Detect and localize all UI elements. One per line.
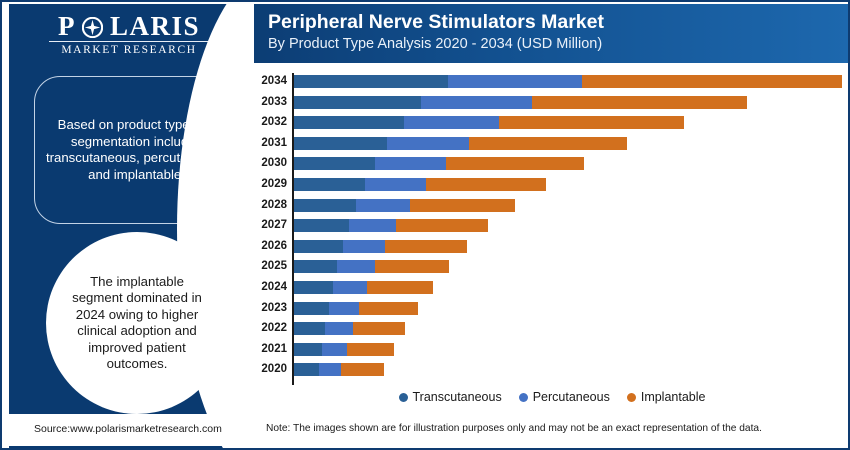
y-axis-tick-label: 2026 xyxy=(254,236,287,256)
stacked-bar[interactable] xyxy=(294,137,627,150)
chart-row: 2026 xyxy=(254,236,850,256)
bar-segment-percutaneous[interactable] xyxy=(387,137,469,150)
bar-segment-transcutaneous[interactable] xyxy=(294,281,333,294)
bar-segment-percutaneous[interactable] xyxy=(333,281,367,294)
chart-row: 2020 xyxy=(254,359,850,379)
bar-segment-percutaneous[interactable] xyxy=(356,199,410,212)
stacked-bar[interactable] xyxy=(294,219,488,232)
source-text: Source:www.polarismarketresearch.com xyxy=(34,423,222,435)
chart-row: 2029 xyxy=(254,174,850,194)
stacked-bar[interactable] xyxy=(294,178,546,191)
bar-segment-percutaneous[interactable] xyxy=(375,157,446,170)
bar-segment-percutaneous[interactable] xyxy=(329,302,359,315)
legend-label: Percutaneous xyxy=(533,390,610,404)
stacked-bar[interactable] xyxy=(294,260,449,273)
chart-row: 2031 xyxy=(254,133,850,153)
chart-row: 2024 xyxy=(254,277,850,297)
bar-segment-transcutaneous[interactable] xyxy=(294,137,387,150)
bar-segment-implantable[interactable] xyxy=(582,75,842,88)
logo-subtitle: MARKET RESEARCH xyxy=(49,44,209,56)
bar-segment-transcutaneous[interactable] xyxy=(294,96,421,109)
y-axis-tick-label: 2024 xyxy=(254,277,287,297)
bar-segment-transcutaneous[interactable] xyxy=(294,260,337,273)
bar-segment-percutaneous[interactable] xyxy=(319,363,341,376)
y-axis-tick-label: 2031 xyxy=(254,133,287,153)
bar-segment-percutaneous[interactable] xyxy=(337,260,375,273)
bar-segment-implantable[interactable] xyxy=(375,260,448,273)
y-axis-tick-label: 2022 xyxy=(254,318,287,338)
bar-segment-transcutaneous[interactable] xyxy=(294,363,319,376)
chart-row: 2023 xyxy=(254,298,850,318)
bar-segment-transcutaneous[interactable] xyxy=(294,322,325,335)
stacked-bar[interactable] xyxy=(294,96,747,109)
y-axis-tick-label: 2023 xyxy=(254,298,287,318)
logo-wordmark: P LARIS xyxy=(58,12,200,40)
bar-segment-transcutaneous[interactable] xyxy=(294,343,322,356)
stacked-bar[interactable] xyxy=(294,157,584,170)
logo-letters-laris: LARIS xyxy=(110,11,200,41)
bar-segment-implantable[interactable] xyxy=(410,199,515,212)
bar-segment-transcutaneous[interactable] xyxy=(294,219,349,232)
y-axis-tick-label: 2020 xyxy=(254,359,287,379)
chart-row: 2030 xyxy=(254,153,850,173)
bar-segment-implantable[interactable] xyxy=(396,219,488,232)
y-axis-tick-label: 2027 xyxy=(254,215,287,235)
legend-item-implantable[interactable]: Implantable xyxy=(627,390,706,404)
y-axis-tick-label: 2028 xyxy=(254,195,287,215)
bar-segment-implantable[interactable] xyxy=(469,137,627,150)
y-axis-tick-label: 2029 xyxy=(254,174,287,194)
bar-segment-implantable[interactable] xyxy=(532,96,747,109)
chart-row: 2032 xyxy=(254,112,850,132)
bar-segment-implantable[interactable] xyxy=(347,343,394,356)
bar-segment-percutaneous[interactable] xyxy=(322,343,347,356)
bar-segment-implantable[interactable] xyxy=(353,322,406,335)
y-axis-tick-label: 2034 xyxy=(254,71,287,91)
insight-callout-text: The implantable segment dominated in 202… xyxy=(64,274,210,373)
legend-item-percutaneous[interactable]: Percutaneous xyxy=(519,390,610,404)
bar-segment-transcutaneous[interactable] xyxy=(294,116,404,129)
logo-divider: MARKET RESEARCH xyxy=(49,41,209,56)
bar-segment-implantable[interactable] xyxy=(446,157,583,170)
chart-row: 2034 xyxy=(254,71,850,91)
panel-left-edge xyxy=(4,4,9,450)
bar-segment-percutaneous[interactable] xyxy=(365,178,427,191)
bar-segment-percutaneous[interactable] xyxy=(343,240,385,253)
bar-segment-transcutaneous[interactable] xyxy=(294,178,365,191)
disclaimer-note: Note: The images shown are for illustrat… xyxy=(266,423,762,434)
bar-segment-percutaneous[interactable] xyxy=(325,322,352,335)
bar-segment-implantable[interactable] xyxy=(385,240,467,253)
page-title: Peripheral Nerve Stimulators Market xyxy=(268,10,850,34)
stacked-bar[interactable] xyxy=(294,322,405,335)
stacked-bar[interactable] xyxy=(294,343,394,356)
chart-row: 2021 xyxy=(254,339,850,359)
bar-segment-transcutaneous[interactable] xyxy=(294,240,343,253)
stacked-bar[interactable] xyxy=(294,116,684,129)
bar-segment-implantable[interactable] xyxy=(426,178,545,191)
bar-segment-transcutaneous[interactable] xyxy=(294,302,329,315)
bar-segment-implantable[interactable] xyxy=(359,302,418,315)
bar-segment-implantable[interactable] xyxy=(367,281,433,294)
y-axis-tick-label: 2033 xyxy=(254,92,287,112)
chart-row: 2022 xyxy=(254,318,850,338)
bar-segment-transcutaneous[interactable] xyxy=(294,157,375,170)
legend-marker-icon xyxy=(627,393,636,402)
y-axis-tick-label: 2025 xyxy=(254,256,287,276)
page-subtitle: By Product Type Analysis 2020 - 2034 (US… xyxy=(268,34,850,54)
y-axis-tick-label: 2030 xyxy=(254,153,287,173)
bar-segment-transcutaneous[interactable] xyxy=(294,199,356,212)
bar-segment-percutaneous[interactable] xyxy=(404,116,500,129)
chart-row: 2028 xyxy=(254,195,850,215)
stacked-bar[interactable] xyxy=(294,363,384,376)
stacked-bar[interactable] xyxy=(294,281,433,294)
header-band: Peripheral Nerve Stimulators Market By P… xyxy=(254,4,850,63)
legend-item-transcutaneous[interactable]: Transcutaneous xyxy=(399,390,502,404)
bar-segment-implantable[interactable] xyxy=(341,363,384,376)
stacked-bar[interactable] xyxy=(294,75,842,88)
footer-bar: Source:www.polarismarketresearch.com Not… xyxy=(4,414,850,446)
bar-segment-percutaneous[interactable] xyxy=(349,219,397,232)
stacked-bar[interactable] xyxy=(294,240,467,253)
bar-segment-percutaneous[interactable] xyxy=(448,75,582,88)
stacked-bar[interactable] xyxy=(294,199,515,212)
legend-label: Transcutaneous xyxy=(413,390,502,404)
stacked-bar-chart: 2034203320322031203020292028202720262025… xyxy=(254,71,850,389)
legend-marker-icon xyxy=(519,393,528,402)
y-axis-tick-label: 2021 xyxy=(254,339,287,359)
compass-star-icon xyxy=(82,15,103,36)
stacked-bar[interactable] xyxy=(294,302,418,315)
logo-letter-p: P xyxy=(58,11,75,41)
bar-segment-implantable[interactable] xyxy=(499,116,684,129)
bar-segment-percutaneous[interactable] xyxy=(421,96,532,109)
insight-callout: The implantable segment dominated in 202… xyxy=(46,232,228,414)
legend-label: Implantable xyxy=(641,390,706,404)
chart-row: 2025 xyxy=(254,256,850,276)
chart-legend: TranscutaneousPercutaneousImplantable xyxy=(254,390,850,404)
legend-marker-icon xyxy=(399,393,408,402)
left-panel: P LARIS MARKET RESEARCH Based on product… xyxy=(4,4,254,450)
chart-container: 2034203320322031203020292028202720262025… xyxy=(254,63,850,418)
chart-row: 2033 xyxy=(254,92,850,112)
chart-row: 2027 xyxy=(254,215,850,235)
y-axis-tick-label: 2032 xyxy=(254,112,287,132)
bar-segment-transcutaneous[interactable] xyxy=(294,75,448,88)
infographic-root: P LARIS MARKET RESEARCH Based on product… xyxy=(0,0,850,450)
